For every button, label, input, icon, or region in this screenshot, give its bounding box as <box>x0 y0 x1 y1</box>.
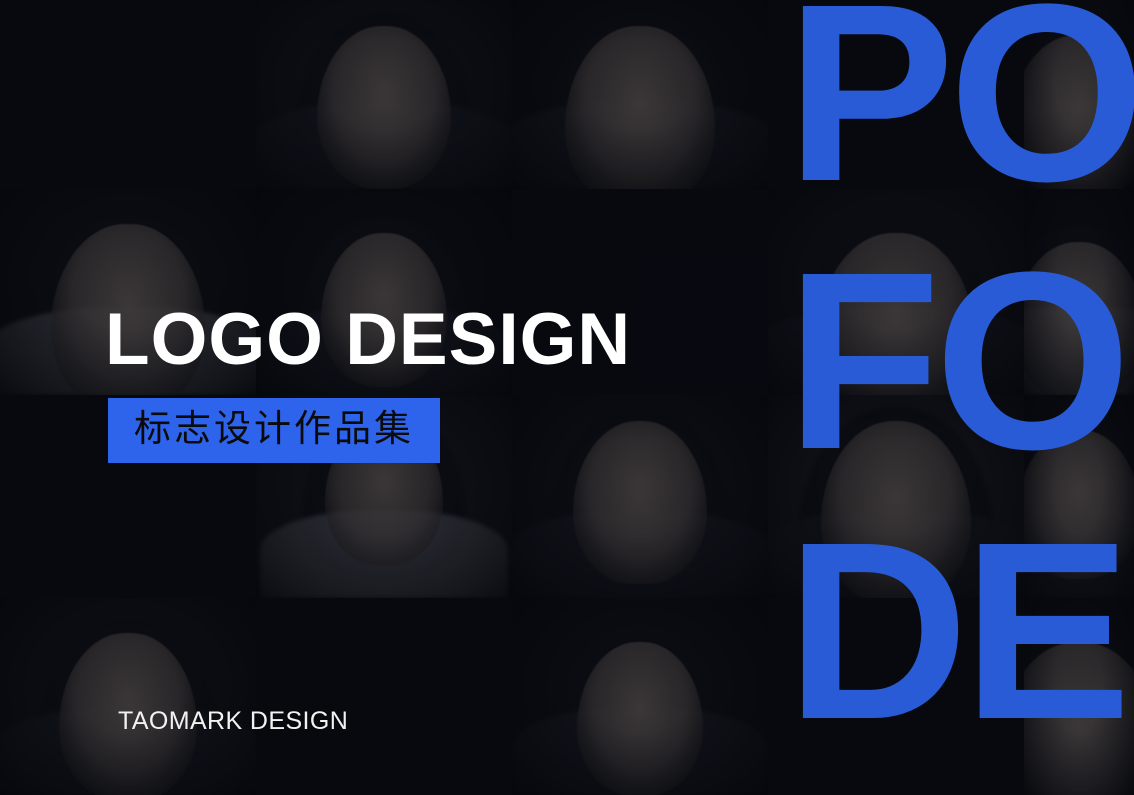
cell-r4c1 <box>0 598 256 795</box>
cell-r4c2 <box>256 598 512 795</box>
cell-r4c3 <box>512 598 768 795</box>
headline-block: LOGO DESIGN 标志设计作品集 <box>105 303 631 463</box>
cell-r1c3 <box>512 0 768 189</box>
cell-r3c5 <box>1024 395 1134 598</box>
brand-credit: TAOMARK DESIGN <box>118 707 348 736</box>
cell-r1c5 <box>1024 0 1134 189</box>
portrait-vignette <box>1024 395 1134 598</box>
portrait-vignette <box>768 395 1024 598</box>
poster-canvas: PO FO DE LOGO DESIGN 标志设计作品集 TAOMARK DES… <box>0 0 1134 795</box>
cell-r1c2 <box>256 0 512 189</box>
cell-r2c5 <box>1024 189 1134 395</box>
page-title: LOGO DESIGN <box>105 303 631 376</box>
portrait-vignette <box>512 598 768 795</box>
portrait-vignette <box>1024 189 1134 395</box>
subtitle-badge: 标志设计作品集 <box>108 398 440 463</box>
cell-r2c4 <box>768 189 1024 395</box>
cell-r1c1 <box>0 0 256 189</box>
cell-r3c4 <box>768 395 1024 598</box>
cell-r4c4 <box>768 598 1024 795</box>
portrait-vignette <box>512 0 768 189</box>
portrait-vignette <box>768 189 1024 395</box>
portrait-vignette <box>0 598 256 795</box>
portrait-vignette <box>256 0 512 189</box>
portrait-vignette <box>1024 0 1134 189</box>
portrait-vignette <box>1024 598 1134 795</box>
cell-r4c5 <box>1024 598 1134 795</box>
cell-r1c4 <box>768 0 1024 189</box>
